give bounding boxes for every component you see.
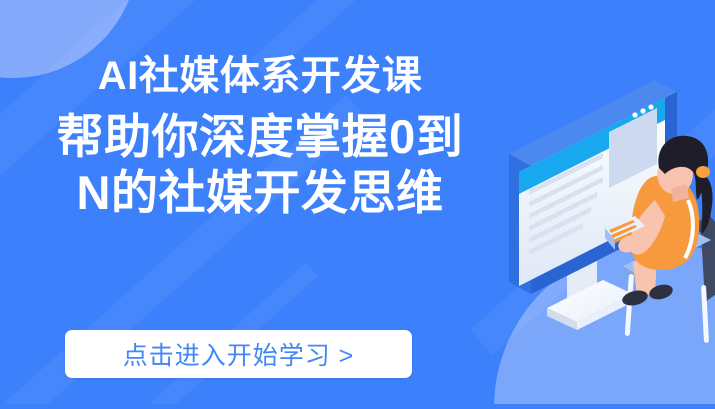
window-dot-icon (632, 112, 637, 117)
bottom-edge-strip (0, 404, 715, 409)
headline-line-2: 帮助你深度掌握0到 (0, 113, 520, 160)
hero-illustration (505, 80, 715, 370)
window-dot-icon (648, 104, 653, 109)
woman-at-computer-illustration (505, 80, 715, 370)
start-learning-button-label: 点击进入开始学习 > (123, 336, 355, 372)
headline-line-3: N的社媒开发思维 (0, 169, 520, 216)
headline-line-1: AI社媒体系开发课 (0, 56, 520, 96)
headline-block: AI社媒体系开发课 帮助你深度掌握0到 N的社媒开发思维 (0, 56, 520, 216)
start-learning-button[interactable]: 点击进入开始学习 > (65, 330, 412, 378)
hair-tie-icon (696, 166, 710, 178)
promo-banner: AI社媒体系开发课 帮助你深度掌握0到 N的社媒开发思维 点击进入开始学习 > (0, 0, 715, 409)
window-dot-icon (640, 108, 645, 113)
